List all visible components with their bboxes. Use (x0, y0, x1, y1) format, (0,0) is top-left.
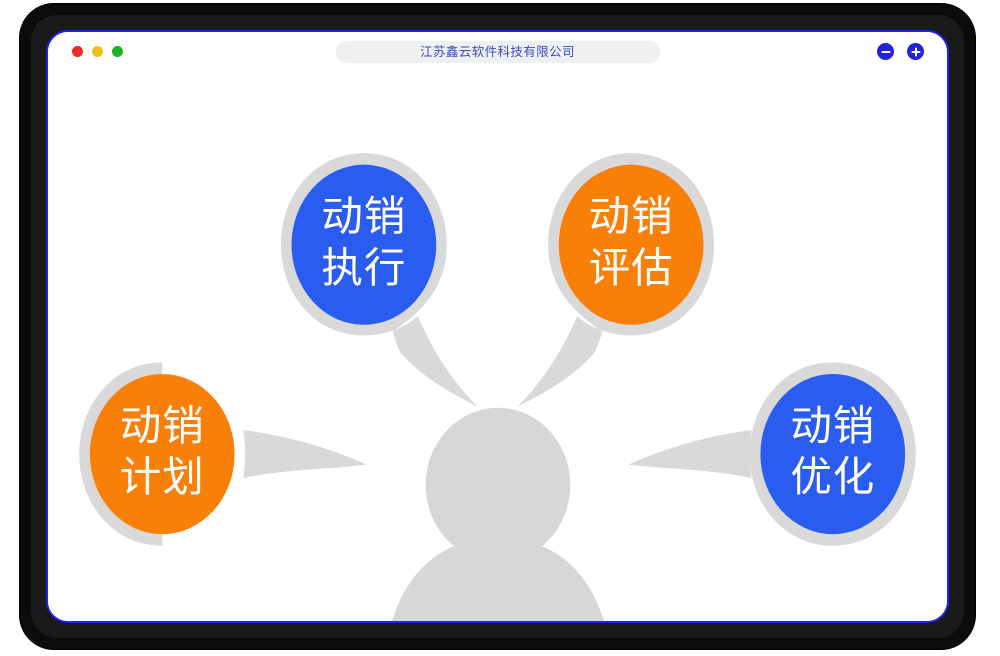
label-execute-line1: 动销 (321, 192, 406, 241)
label-optimize-line2: 优化 (790, 452, 875, 501)
device-frame: 江苏鑫云软件科技有限公司 (20, 4, 975, 649)
window-title: 江苏鑫云软件科技有限公司 (420, 46, 575, 59)
traffic-light-controls (72, 46, 123, 57)
window-action-buttons (877, 43, 924, 60)
browser-window: 江苏鑫云软件科技有限公司 (46, 30, 949, 623)
device-frame-inner: 江苏鑫云软件科技有限公司 (31, 15, 964, 638)
label-plan-line2: 计划 (120, 452, 205, 501)
person-body (382, 538, 614, 621)
app-root: 江苏鑫云软件科技有限公司 (0, 0, 1000, 656)
zoom-in-icon[interactable] (907, 43, 924, 60)
label-optimize-line1: 动销 (790, 401, 875, 450)
zoom-out-icon[interactable] (877, 43, 894, 60)
window-titlebar: 江苏鑫云软件科技有限公司 (48, 32, 947, 74)
maximize-window-button[interactable] (112, 46, 123, 57)
diagram-canvas: 动销 执行 动销 评估 动销 计划 动销 优化 (48, 73, 947, 621)
label-plan-line1: 动销 (120, 401, 205, 450)
radial-callout-diagram: 动销 执行 动销 评估 动销 计划 动销 优化 (48, 73, 947, 621)
label-execute-line2: 执行 (321, 243, 406, 292)
close-window-button[interactable] (72, 46, 83, 57)
person-silhouette-icon (382, 408, 614, 621)
minimize-window-button[interactable] (92, 46, 103, 57)
label-evaluate-line1: 动销 (589, 192, 674, 241)
address-bar[interactable]: 江苏鑫云软件科技有限公司 (335, 41, 660, 63)
label-evaluate-line2: 评估 (589, 243, 674, 292)
